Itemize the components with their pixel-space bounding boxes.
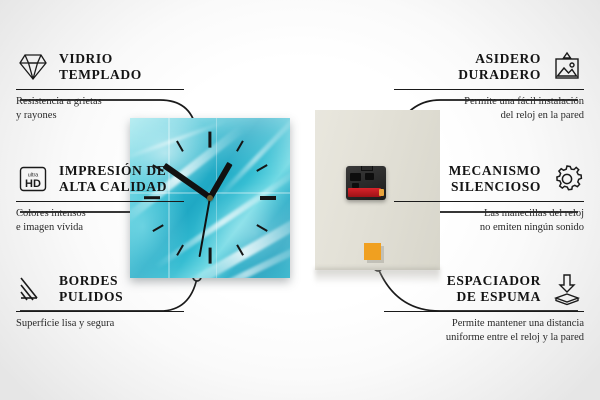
feature-title-line1: VIDRIO — [59, 51, 142, 67]
feature-impresion-alta-calidad: ultra HD IMPRESIÓN DE ALTA CALIDAD Color… — [16, 162, 184, 235]
feature-desc-line1: Superficie lisa y segura — [16, 317, 184, 331]
feature-title-line1: BORDES — [59, 273, 123, 289]
feature-divider — [16, 89, 184, 90]
spacer-press-icon — [550, 272, 584, 306]
movement-shaft — [361, 166, 373, 171]
feature-asidero-duradero: ASIDERO DURADERO Permite una fácil insta… — [394, 50, 584, 123]
picture-hanger-icon — [550, 50, 584, 84]
foam-spacer — [364, 243, 381, 260]
feature-title-line1: MECANISMO — [449, 163, 541, 179]
clock-tick — [208, 248, 211, 264]
diamond-icon — [16, 50, 50, 84]
feature-bordes-pulidos: BORDES PULIDOS Superficie lisa y segura — [16, 272, 184, 331]
feature-divider — [384, 311, 584, 312]
feature-title-line1: ESPACIADOR — [447, 273, 541, 289]
feature-title-line2: DURADERO — [458, 67, 541, 83]
feature-desc-line2: no emiten ningún sonido — [394, 221, 584, 235]
battery-terminal — [379, 189, 384, 196]
clock-tick — [260, 196, 276, 199]
feature-desc-line2: del reloj en la pared — [394, 109, 584, 123]
gear-icon — [550, 162, 584, 196]
feature-mecanismo-silencioso: MECANISMO SILENCIOSO Las manecillas del … — [394, 162, 584, 235]
feature-divider — [16, 201, 184, 202]
clock-movement — [346, 166, 386, 200]
feature-title-line1: IMPRESIÓN DE — [59, 163, 167, 179]
feature-desc-line1: Resistencia a grietas — [16, 95, 184, 109]
movement-notch — [365, 173, 374, 180]
feature-title-line2: PULIDOS — [59, 289, 123, 305]
feature-desc-line2: uniforme entre el reloj y la pared — [384, 331, 584, 345]
feature-divider — [394, 201, 584, 202]
battery — [348, 188, 381, 197]
feature-title-line2: DE ESPUMA — [447, 289, 541, 305]
ultra-hd-icon: ultra HD — [16, 162, 50, 196]
feature-vidrio-templado: VIDRIO TEMPLADO Resistencia a grietas y … — [16, 50, 184, 123]
feature-desc-line2: e imagen vívida — [16, 221, 184, 235]
feature-title-line1: ASIDERO — [458, 51, 541, 67]
feature-desc-line2: y rayones — [16, 109, 184, 123]
clock-tick — [208, 132, 211, 148]
svg-text:HD: HD — [25, 178, 41, 190]
polished-edges-icon — [16, 272, 50, 306]
infographic-canvas: VIDRIO TEMPLADO Resistencia a grietas y … — [0, 0, 600, 400]
feature-divider — [394, 89, 584, 90]
feature-desc-line1: Colores intensos — [16, 207, 184, 221]
feature-title-line2: TEMPLADO — [59, 67, 142, 83]
feature-desc-line1: Permite mantener una distancia — [384, 317, 584, 331]
clock-pivot — [207, 195, 213, 201]
feature-divider — [16, 311, 184, 312]
feature-desc-line1: Permite una fácil instalación — [394, 95, 584, 109]
feature-title-line2: ALTA CALIDAD — [59, 179, 167, 195]
movement-notch — [350, 173, 361, 181]
feature-espaciador-de-espuma: ESPACIADOR DE ESPUMA Permite mantener un… — [384, 272, 584, 345]
feature-title-line2: SILENCIOSO — [449, 179, 541, 195]
feature-desc-line1: Las manecillas del reloj — [394, 207, 584, 221]
